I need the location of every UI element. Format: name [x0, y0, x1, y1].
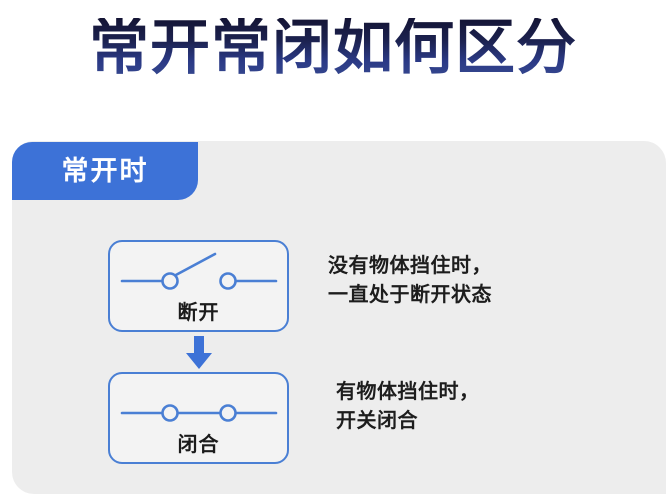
description-closed-line-2: 开关闭合 [336, 407, 480, 436]
closed-switch-icon [110, 374, 287, 436]
description-open: 没有物体挡住时， 一直处于断开状态 [328, 252, 492, 310]
page-header: 常开常闭如何区分 [0, 6, 666, 90]
closed-switch-caption: 闭合 [110, 435, 287, 455]
description-open-line-1: 没有物体挡住时， [328, 252, 492, 281]
section-badge: 常开时 [12, 142, 198, 200]
open-switch-icon [110, 242, 287, 304]
switch-diagram-closed: 闭合 [108, 372, 289, 464]
description-closed-line-1: 有物体挡住时， [336, 378, 480, 407]
down-arrow-icon [183, 336, 215, 369]
description-closed: 有物体挡住时， 开关闭合 [336, 378, 480, 436]
open-switch-caption: 断开 [110, 303, 287, 323]
section-badge-label: 常开时 [62, 158, 149, 185]
page-title: 常开常闭如何区分 [89, 18, 577, 78]
switch-diagram-open: 断开 [108, 240, 289, 332]
description-open-line-2: 一直处于断开状态 [328, 281, 492, 310]
